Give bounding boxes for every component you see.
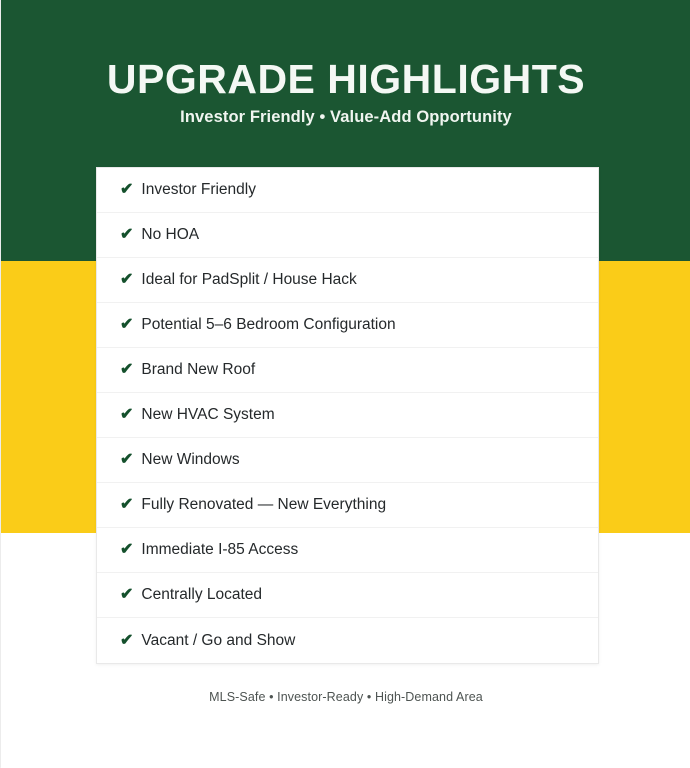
check-icon: ✔ (120, 407, 133, 423)
check-icon: ✔ (120, 633, 133, 649)
list-item: ✔ Investor Friendly (97, 168, 598, 213)
footer-tagline: MLS-Safe • Investor-Ready • High-Demand … (209, 690, 483, 704)
check-icon: ✔ (120, 182, 133, 198)
check-icon: ✔ (120, 542, 133, 558)
list-item: ✔ Ideal for PadSplit / House Hack (97, 258, 598, 303)
list-item: ✔ New HVAC System (97, 393, 598, 438)
list-item-label: Potential 5–6 Bedroom Configuration (141, 317, 395, 333)
list-item-label: Immediate I-85 Access (141, 542, 298, 558)
check-icon: ✔ (120, 317, 133, 333)
check-icon: ✔ (120, 497, 133, 513)
check-icon: ✔ (120, 452, 133, 468)
list-item: ✔ Potential 5–6 Bedroom Configuration (97, 303, 598, 348)
list-item-label: Ideal for PadSplit / House Hack (141, 272, 356, 288)
check-icon: ✔ (120, 272, 133, 288)
property-highlights-flyer: UPGRADE HIGHLIGHTS Investor Friendly • V… (0, 0, 690, 768)
list-item-label: No HOA (141, 227, 199, 243)
flyer-footer: MLS-Safe • Investor-Ready • High-Demand … (1, 688, 690, 706)
list-item: ✔ Centrally Located (97, 573, 598, 618)
list-item-label: Centrally Located (141, 587, 262, 603)
list-item-label: Brand New Roof (141, 362, 255, 378)
check-icon: ✔ (120, 587, 133, 603)
list-item-label: New HVAC System (141, 407, 274, 423)
list-item-label: New Windows (141, 452, 239, 468)
highlights-card: ✔ Investor Friendly ✔ No HOA ✔ Ideal for… (96, 167, 599, 664)
check-icon: ✔ (120, 227, 133, 243)
list-item-label: Fully Renovated — New Everything (141, 497, 386, 513)
list-item: ✔ Immediate I-85 Access (97, 528, 598, 573)
list-item: ✔ Brand New Roof (97, 348, 598, 393)
list-item: ✔ Vacant / Go and Show (97, 618, 598, 663)
list-item: ✔ New Windows (97, 438, 598, 483)
check-icon: ✔ (120, 362, 133, 378)
list-item-label: Investor Friendly (141, 182, 256, 198)
list-item: ✔ Fully Renovated — New Everything (97, 483, 598, 528)
list-item-label: Vacant / Go and Show (141, 633, 295, 649)
highlights-list: ✔ Investor Friendly ✔ No HOA ✔ Ideal for… (97, 168, 598, 663)
list-item: ✔ No HOA (97, 213, 598, 258)
